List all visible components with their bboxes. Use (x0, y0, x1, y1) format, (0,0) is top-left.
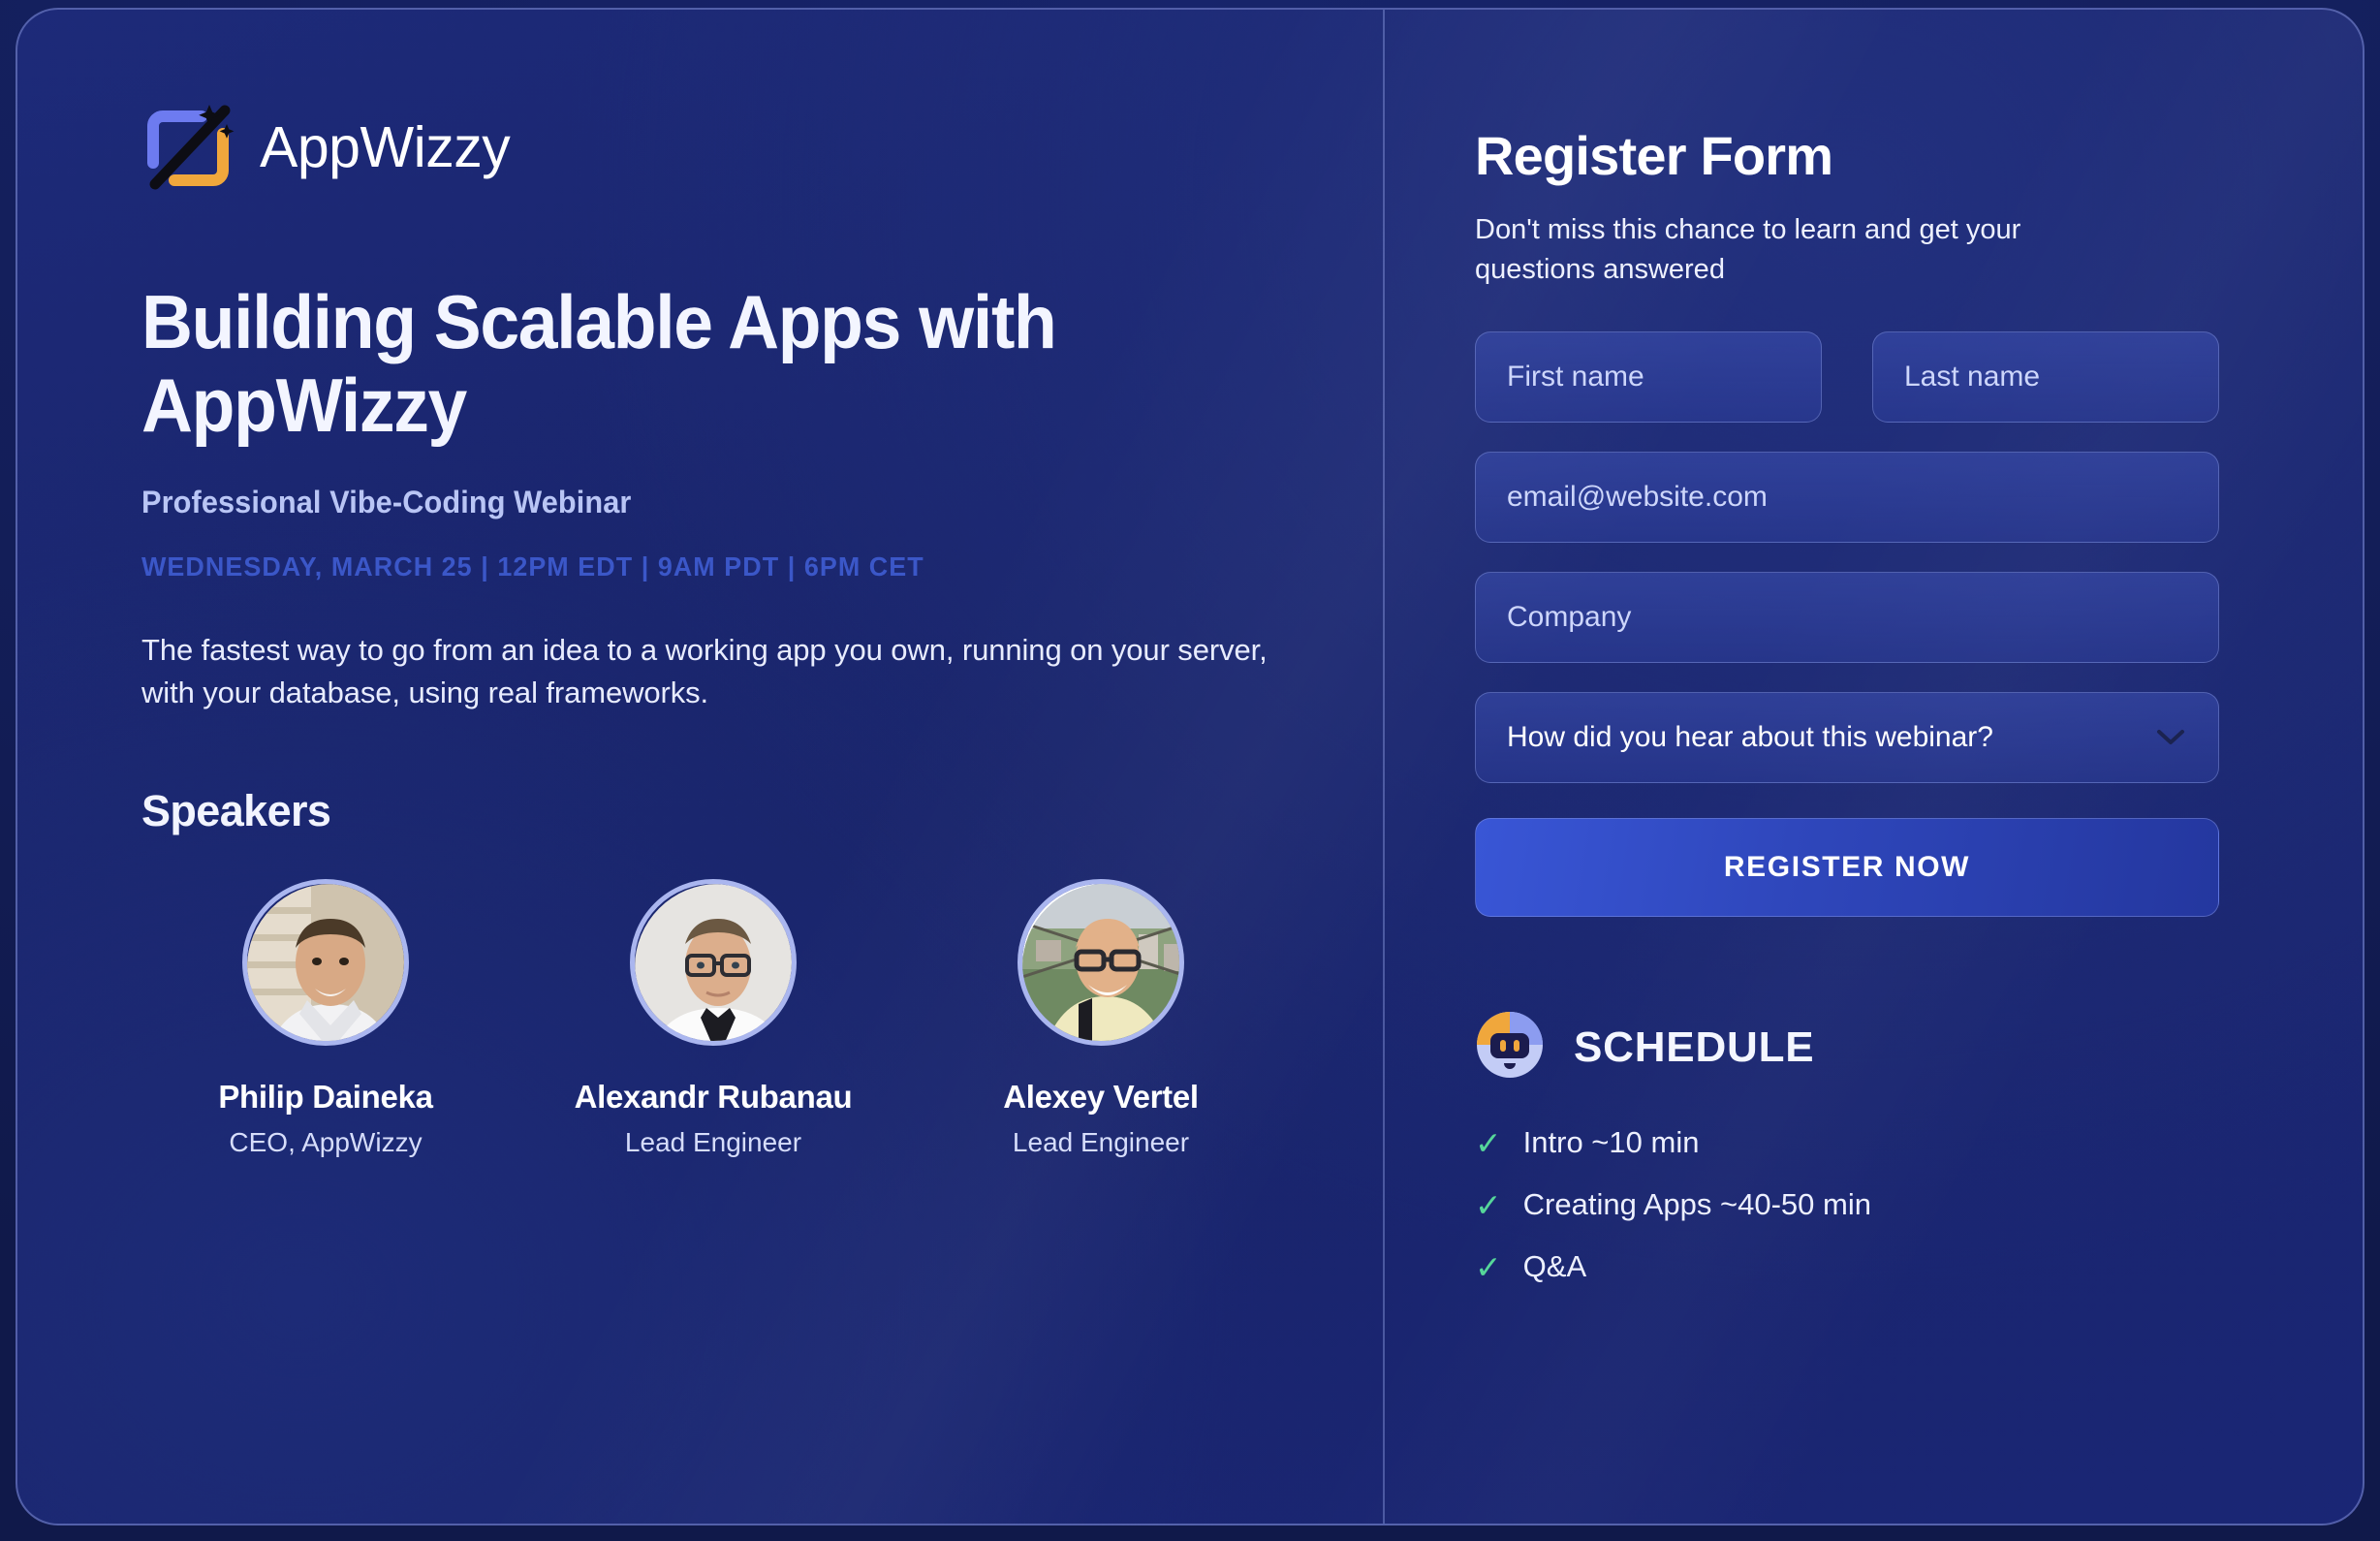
check-icon: ✓ (1475, 1189, 1502, 1221)
brand-name: AppWizzy (260, 114, 510, 180)
register-now-button[interactable]: REGISTER NOW (1475, 818, 2219, 917)
speaker-card: Alexandr Rubanau Lead Engineer (554, 879, 872, 1158)
schedule-title: SCHEDULE (1574, 1023, 1814, 1072)
last-name-input[interactable]: Last name (1872, 331, 2219, 423)
brand-logo[interactable]: AppWizzy (141, 103, 1383, 192)
panel-divider (1383, 10, 1385, 1524)
register-form-title: Register Form (1475, 124, 2219, 187)
speaker-card: Alexey Vertel Lead Engineer (942, 879, 1260, 1158)
register-form-subtitle: Don't miss this chance to learn and get … (1475, 210, 2144, 289)
speaker-role: CEO, AppWizzy (167, 1127, 485, 1158)
list-item: ✓ Creating Apps ~40-50 min (1475, 1187, 2219, 1222)
left-panel: AppWizzy Building Scalable Apps with App… (17, 10, 1383, 1524)
avatar (242, 879, 409, 1046)
check-icon: ✓ (1475, 1127, 1502, 1159)
schedule-item-label: Q&A (1523, 1249, 1586, 1284)
first-name-input[interactable]: First name (1475, 331, 1822, 423)
list-item: ✓ Q&A (1475, 1249, 2219, 1284)
list-item: ✓ Intro ~10 min (1475, 1125, 2219, 1160)
webinar-datetime: WEDNESDAY, MARCH 25 | 12PM EDT | 9AM PDT… (141, 551, 1333, 582)
webinar-subtitle: Professional Vibe-Coding Webinar (141, 485, 1333, 520)
chevron-down-icon (2156, 721, 2185, 754)
webinar-landing-card: AppWizzy Building Scalable Apps with App… (16, 8, 2364, 1525)
check-icon: ✓ (1475, 1251, 1502, 1283)
robot-face-icon (1475, 1010, 1545, 1085)
schedule-item-label: Creating Apps ~40-50 min (1523, 1187, 1871, 1222)
appwizzy-wand-logo-icon (141, 103, 235, 192)
referral-source-value: How did you hear about this webinar? (1507, 721, 1993, 754)
page-title: Building Scalable Apps with AppWizzy (141, 281, 1216, 448)
email-input[interactable]: email@website.com (1475, 452, 2219, 543)
company-input[interactable]: Company (1475, 572, 2219, 663)
speaker-name: Alexandr Rubanau (554, 1079, 872, 1116)
speaker-card: Philip Daineka CEO, AppWizzy (167, 879, 485, 1158)
speaker-role: Lead Engineer (942, 1127, 1260, 1158)
page-background: AppWizzy Building Scalable Apps with App… (0, 0, 2380, 1541)
avatar (1018, 879, 1184, 1046)
speaker-name: Philip Daineka (167, 1079, 485, 1116)
speakers-heading: Speakers (141, 786, 1383, 836)
register-panel: Register Form Don't miss this chance to … (1383, 10, 2363, 1524)
speakers-list: Philip Daineka CEO, AppWizzy (141, 879, 1383, 1158)
speaker-name: Alexey Vertel (942, 1079, 1260, 1116)
schedule-list: ✓ Intro ~10 min ✓ Creating Apps ~40-50 m… (1475, 1125, 2219, 1284)
schedule-header: SCHEDULE (1475, 1010, 2219, 1085)
webinar-description: The fastest way to go from an idea to a … (141, 629, 1275, 714)
avatar (630, 879, 797, 1046)
name-row: First name Last name (1475, 331, 2219, 452)
schedule-item-label: Intro ~10 min (1523, 1125, 1700, 1160)
speaker-role: Lead Engineer (554, 1127, 872, 1158)
referral-source-select[interactable]: How did you hear about this webinar? (1475, 692, 2219, 783)
register-form: First name Last name email@website.com C… (1475, 331, 2219, 917)
